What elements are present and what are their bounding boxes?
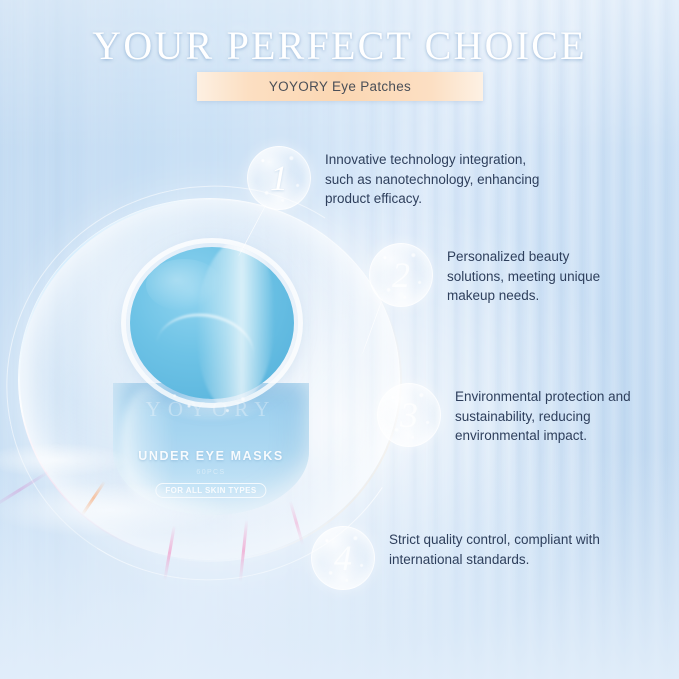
feature-number-bubble-4: 4 [311,526,375,590]
feature-number-1: 1 [270,160,288,196]
feature-number-2: 2 [392,257,410,293]
subtitle-bar: YOYORY Eye Patches [197,72,483,101]
feature-item-2: 2 Personalized beauty solutions, meeting… [369,243,600,307]
feature-item-3: 3 Environmental protection and sustainab… [377,383,631,447]
feature-number-bubble-2: 2 [369,243,433,307]
feature-text-4: Strict quality control, compliant with i… [389,526,600,569]
feature-number-bubble-3: 3 [377,383,441,447]
feature-item-1: 1 Innovative technology integration, suc… [247,146,539,210]
feature-number-3: 3 [400,397,418,433]
product-poster: YOYORY UNDER EYE MASKS 60PCS FOR ALL SKI… [0,0,679,679]
feature-text-1: Innovative technology integration, such … [325,146,539,209]
feature-item-4: 4 Strict quality control, compliant with… [311,526,600,590]
feature-text-2: Personalized beauty solutions, meeting u… [447,243,600,306]
water-splash [0,330,290,580]
subtitle-text: YOYORY Eye Patches [269,79,411,94]
feature-number-bubble-1: 1 [247,146,311,210]
page-title: YOUR PERFECT CHOICE [0,22,679,69]
feature-text-3: Environmental protection and sustainabil… [455,383,631,446]
feature-number-4: 4 [334,540,352,576]
